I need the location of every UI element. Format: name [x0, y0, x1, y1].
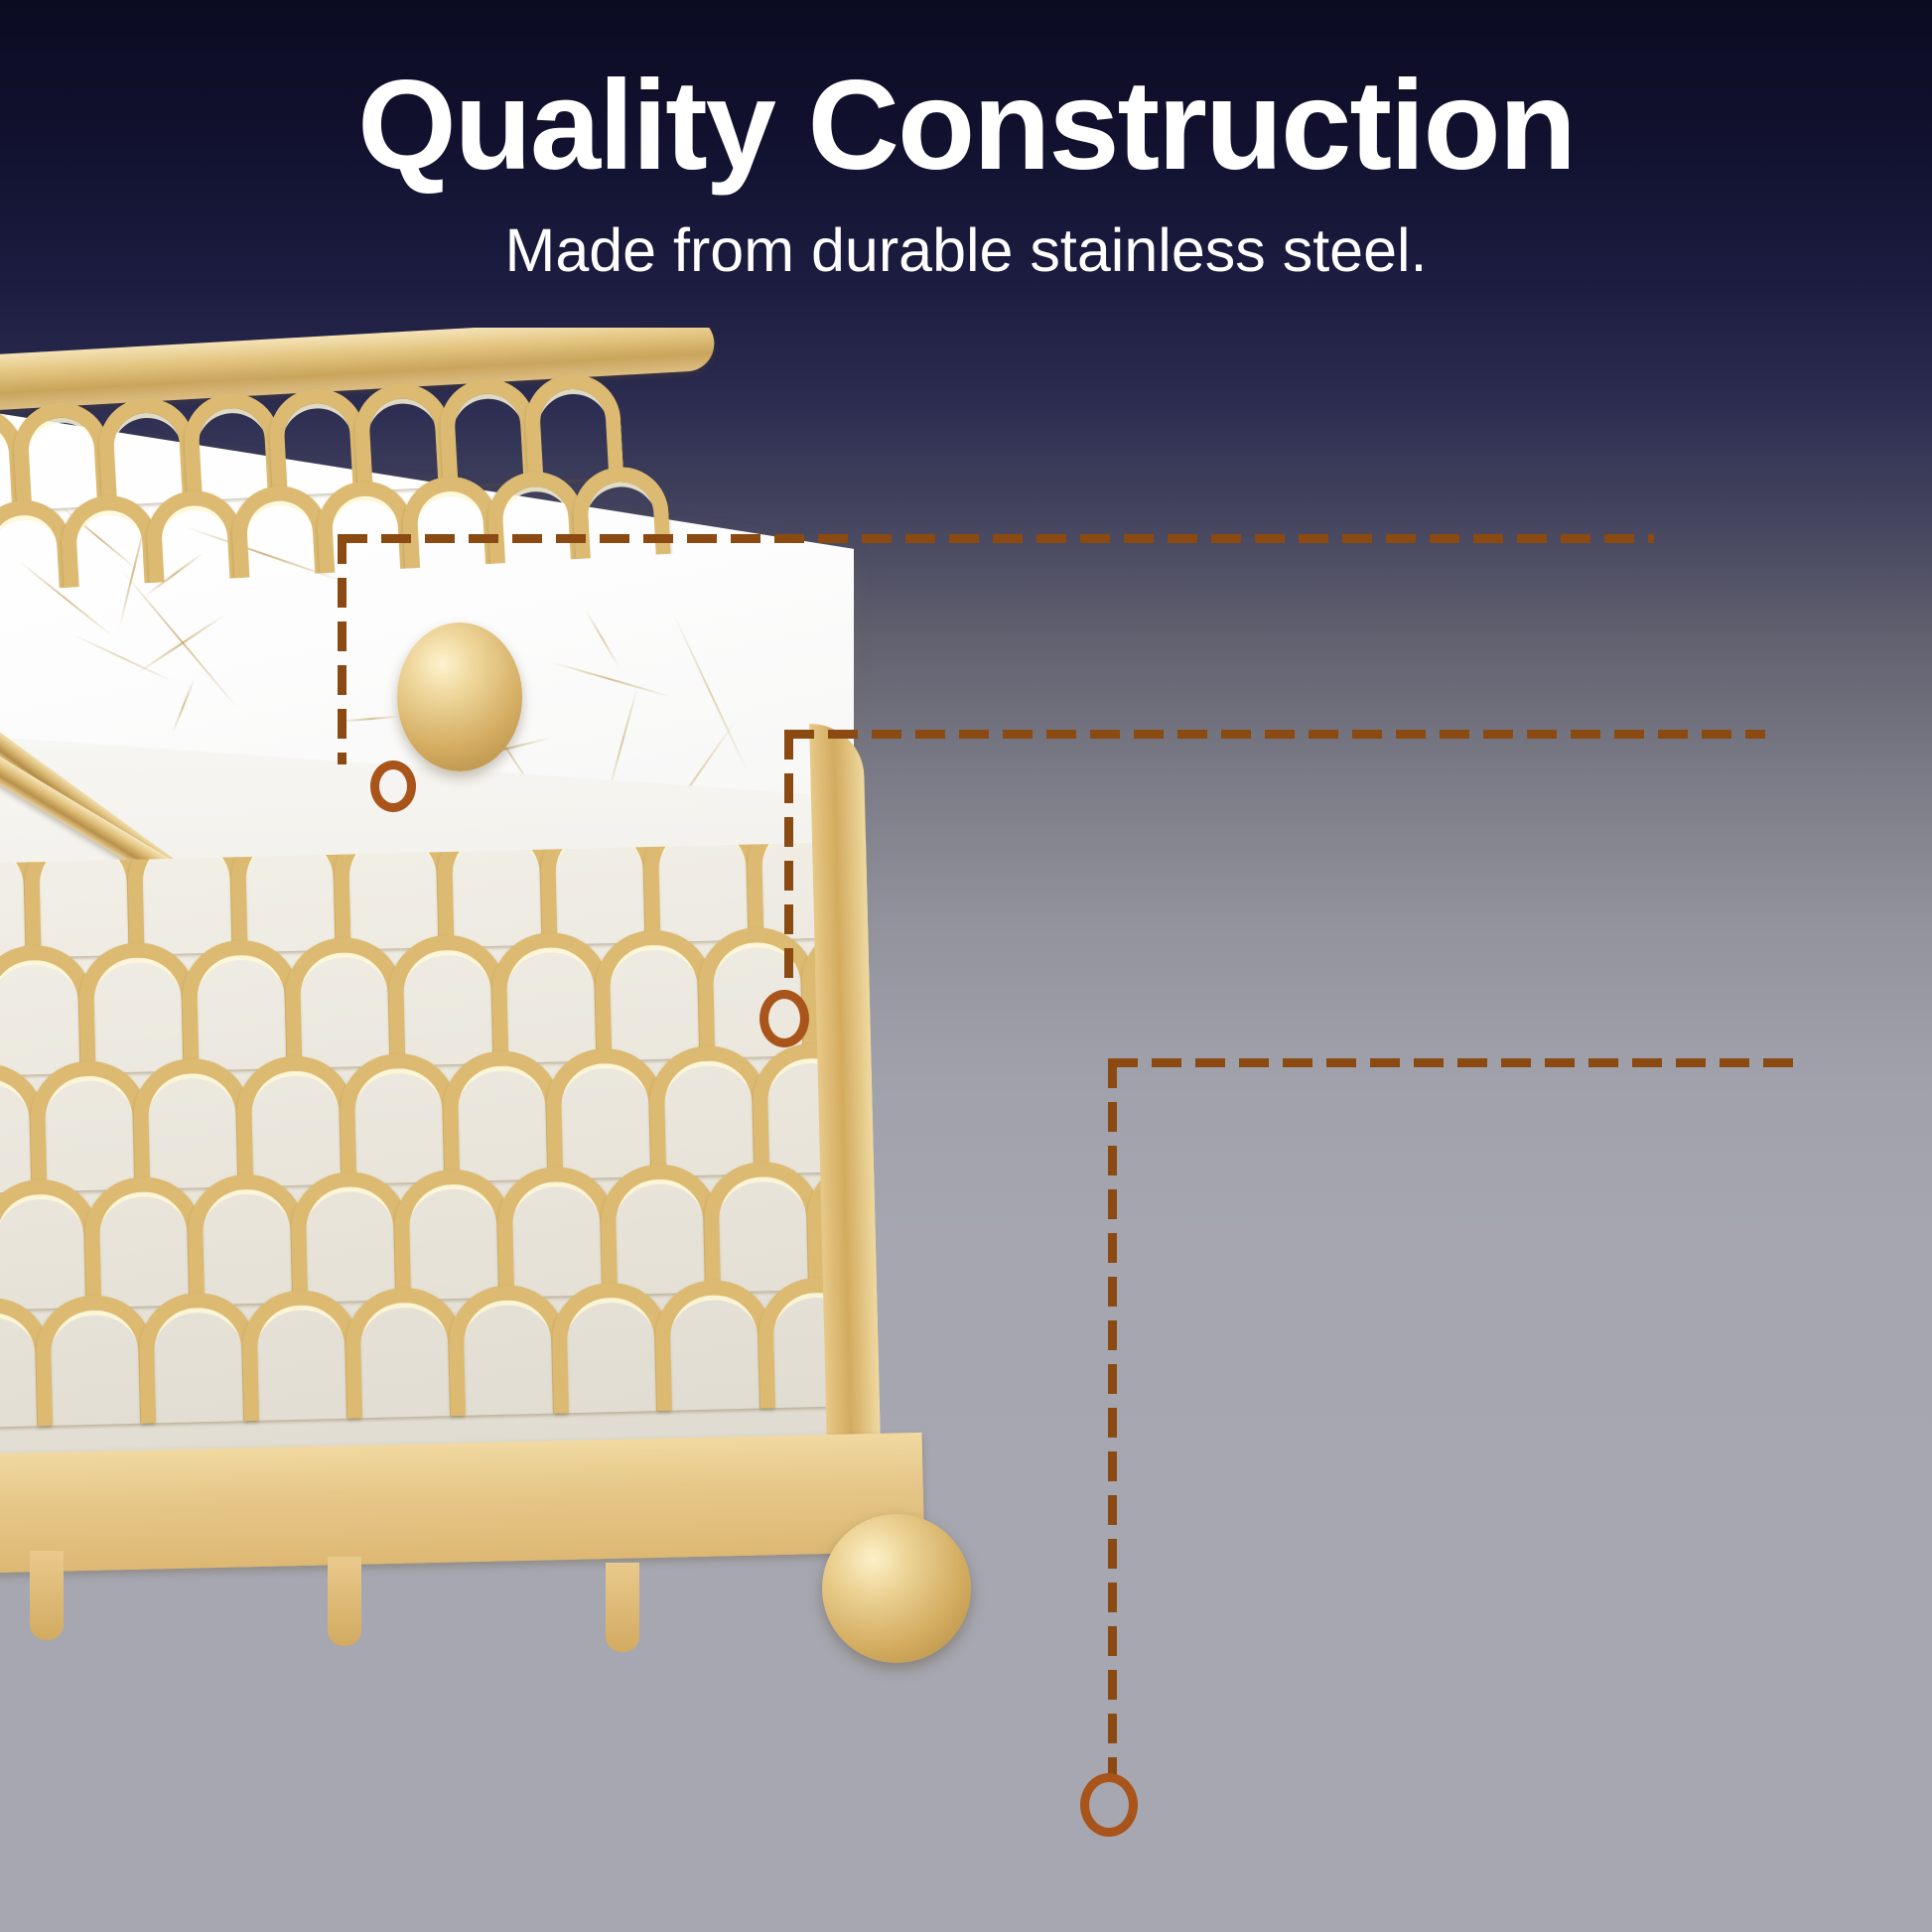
scallop-arch	[393, 1169, 513, 1301]
scallop-arch	[448, 1284, 568, 1416]
scallop-arch	[594, 929, 714, 1061]
scallop-arch	[642, 842, 762, 942]
scallop-arch	[523, 371, 624, 482]
scallop-arch	[284, 936, 404, 1068]
callout-leader-line-horizontal	[338, 534, 1654, 543]
scallop-arch	[241, 1289, 361, 1421]
scallop-arch	[333, 842, 453, 950]
scallop-arch	[345, 1287, 465, 1419]
scallop-arch	[442, 1049, 562, 1181]
pivot-arm-ball-finial	[397, 622, 522, 771]
callout-marker-ring	[1080, 1773, 1138, 1837]
scallop-arch	[436, 842, 556, 948]
holder-base-bar	[0, 1433, 924, 1576]
callout-leader-line-vertical	[338, 534, 346, 764]
scallop-arch	[545, 1047, 665, 1179]
raised-foot	[606, 1563, 639, 1652]
scallop-arch	[654, 1279, 774, 1411]
raised-foot	[30, 1551, 64, 1640]
scallop-arch	[339, 1052, 459, 1184]
product-photo	[0, 328, 1052, 1932]
scallop-arch	[648, 1044, 768, 1176]
scallop-arch	[539, 842, 659, 945]
scallop-arch	[387, 934, 507, 1066]
scallop-arch	[11, 400, 112, 510]
scallop-arch	[496, 1166, 617, 1298]
scallop-arch	[35, 1294, 155, 1426]
botanical-sprig	[172, 677, 196, 733]
callout-leader-line-horizontal	[784, 730, 1765, 739]
scallop-arch	[600, 1164, 720, 1296]
callout-leader-line-horizontal	[1108, 1058, 1805, 1067]
scallop-arch	[235, 1054, 355, 1186]
infographic-canvas: Quality Construction Made from durable s…	[0, 0, 1932, 1932]
raised-foot	[328, 1557, 361, 1646]
scallop-arch	[138, 1292, 258, 1424]
callout-marker-ring	[370, 760, 416, 812]
page-title: Quality Construction	[0, 62, 1932, 192]
botanical-sprig	[585, 610, 620, 668]
scallop-arch	[29, 1060, 149, 1192]
botanical-sprig	[672, 613, 750, 774]
scallop-arch	[126, 842, 246, 955]
scallop-arch	[352, 381, 454, 491]
callout-leader-line-vertical	[1108, 1058, 1117, 1779]
scallop-arch	[490, 931, 611, 1063]
scallop-arch	[60, 493, 161, 598]
callout-leader-line-vertical	[784, 730, 793, 990]
holder-front-panel	[0, 842, 882, 1501]
botanical-sprig	[122, 570, 238, 708]
botanical-sprig	[340, 716, 401, 723]
ball-foot	[822, 1514, 971, 1663]
scallop-arch	[77, 941, 198, 1073]
scallop-arch	[229, 842, 349, 953]
scallop-arch	[290, 1171, 410, 1303]
scallop-arch	[83, 1175, 204, 1308]
scallop-arch	[267, 386, 368, 496]
scallop-arch	[187, 1173, 307, 1306]
callout-marker-ring	[759, 990, 809, 1047]
botanical-sprig	[136, 614, 225, 674]
botanical-sprig	[552, 661, 669, 697]
scallop-arch	[181, 939, 301, 1071]
scallop-arch	[551, 1282, 671, 1414]
front-scallop-grid	[0, 842, 882, 1501]
scallop-arch	[96, 395, 198, 505]
scallop-arch	[438, 376, 539, 486]
scallop-arch	[182, 391, 283, 501]
scallop-arch	[703, 1161, 823, 1293]
scallop-arch	[132, 1057, 252, 1189]
header-block: Quality Construction Made from durable s…	[0, 62, 1932, 284]
page-subtitle: Made from durable stainless steel.	[0, 217, 1932, 284]
